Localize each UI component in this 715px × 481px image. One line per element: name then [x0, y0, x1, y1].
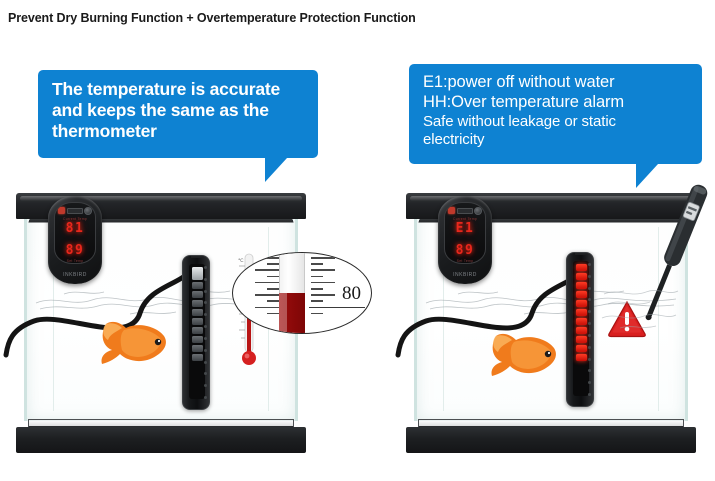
callout-left-line-1: The temperature is accurate — [52, 79, 306, 100]
set-temp-label: Set Temp — [55, 259, 95, 263]
dial-knob-icon[interactable] — [474, 207, 482, 215]
heater-segment — [192, 267, 203, 280]
callout-right: E1:power off without water HH:Over tempe… — [409, 64, 702, 164]
heater-segment — [192, 300, 203, 307]
callout-right-line-1: E1:power off without water — [423, 73, 690, 93]
set-temp-label: Set Temp — [445, 259, 485, 263]
current-temp-value: 81 — [55, 221, 95, 236]
heater-segment — [192, 282, 203, 289]
callout-right-line-4: electricity — [423, 131, 690, 149]
heater-segment — [576, 282, 587, 289]
controller-button-row[interactable] — [448, 206, 482, 215]
page-title: Prevent Dry Burning Function + Overtempe… — [8, 11, 416, 25]
heater-segment — [576, 354, 587, 361]
thermometer-reading-underline — [309, 307, 365, 308]
heater-segment — [192, 291, 203, 298]
set-temp-value: 89 — [445, 243, 485, 258]
brand-logo: INKBIRD — [48, 272, 102, 278]
callout-right-line-3: Safe without leakage or static — [423, 113, 690, 131]
heater-segment — [192, 345, 203, 352]
set-button-icon[interactable] — [67, 208, 83, 214]
controller-display-face: Current Temp E1 89 Set Temp — [444, 202, 486, 264]
set-temp-value: 89 — [55, 243, 95, 258]
heater-segment — [576, 300, 587, 307]
aquarium-heater-left — [182, 255, 210, 410]
heater-segment — [576, 309, 587, 316]
heater-indicator-window — [573, 261, 589, 396]
heater-segment — [576, 264, 587, 271]
thermometer-reading: 80 — [342, 283, 361, 305]
current-temp-label: Current Temp — [445, 217, 485, 221]
heater-cap — [191, 255, 203, 258]
heater-controller-right[interactable]: Current Temp E1 89 Set Temp INKBIRD — [438, 196, 492, 284]
heater-side-dots — [588, 263, 591, 396]
current-temp-label: Current Temp — [55, 217, 95, 221]
controller-display-face: Current Temp 81 89 Set Temp — [54, 202, 96, 264]
heater-segment — [576, 291, 587, 298]
heater-segment — [192, 318, 203, 325]
heater-segment — [576, 327, 587, 334]
heater-segment — [192, 309, 203, 316]
callout-left: The temperature is accurate and keeps th… — [38, 70, 318, 158]
heater-segment — [192, 354, 203, 361]
power-button-icon[interactable] — [448, 207, 455, 214]
brand-logo: INKBIRD — [438, 272, 492, 278]
heater-controller-left[interactable]: Current Temp 81 89 Set Temp INKBIRD — [48, 196, 102, 284]
thermometer-magnifier: 80 — [232, 252, 372, 334]
goldfish-left — [98, 318, 170, 370]
heater-cap — [575, 252, 587, 255]
dial-knob-icon[interactable] — [84, 207, 92, 215]
digital-thermometer-probe — [640, 178, 708, 328]
magnified-ticks-left — [253, 257, 279, 331]
heater-indicator-window — [189, 264, 205, 399]
tank-base-frame — [16, 427, 306, 453]
heater-segment — [576, 336, 587, 343]
magnified-ticks-right — [311, 257, 337, 331]
heater-side-dots — [204, 266, 207, 399]
tank-base-frame — [406, 427, 696, 453]
svg-text:℃: ℃ — [238, 258, 244, 264]
warning-triangle-icon — [607, 300, 647, 338]
callout-left-line-2: and keeps the same as the — [52, 100, 306, 121]
callout-right-line-2: HH:Over temperature alarm — [423, 93, 690, 113]
heater-segment — [576, 345, 587, 352]
magnified-mercury-highlight — [279, 293, 287, 334]
controller-button-row[interactable] — [58, 206, 92, 215]
aquarium-heater-right — [566, 252, 594, 407]
goldfish-right — [488, 330, 560, 382]
power-button-icon[interactable] — [58, 207, 65, 214]
heater-segment — [192, 327, 203, 334]
callout-left-tail — [265, 158, 287, 182]
set-button-icon[interactable] — [457, 208, 473, 214]
heater-segment — [576, 318, 587, 325]
callout-left-line-3: thermometer — [52, 121, 306, 142]
heater-segment — [576, 273, 587, 280]
heater-segment — [192, 336, 203, 343]
error-code-value: E1 — [445, 221, 485, 236]
